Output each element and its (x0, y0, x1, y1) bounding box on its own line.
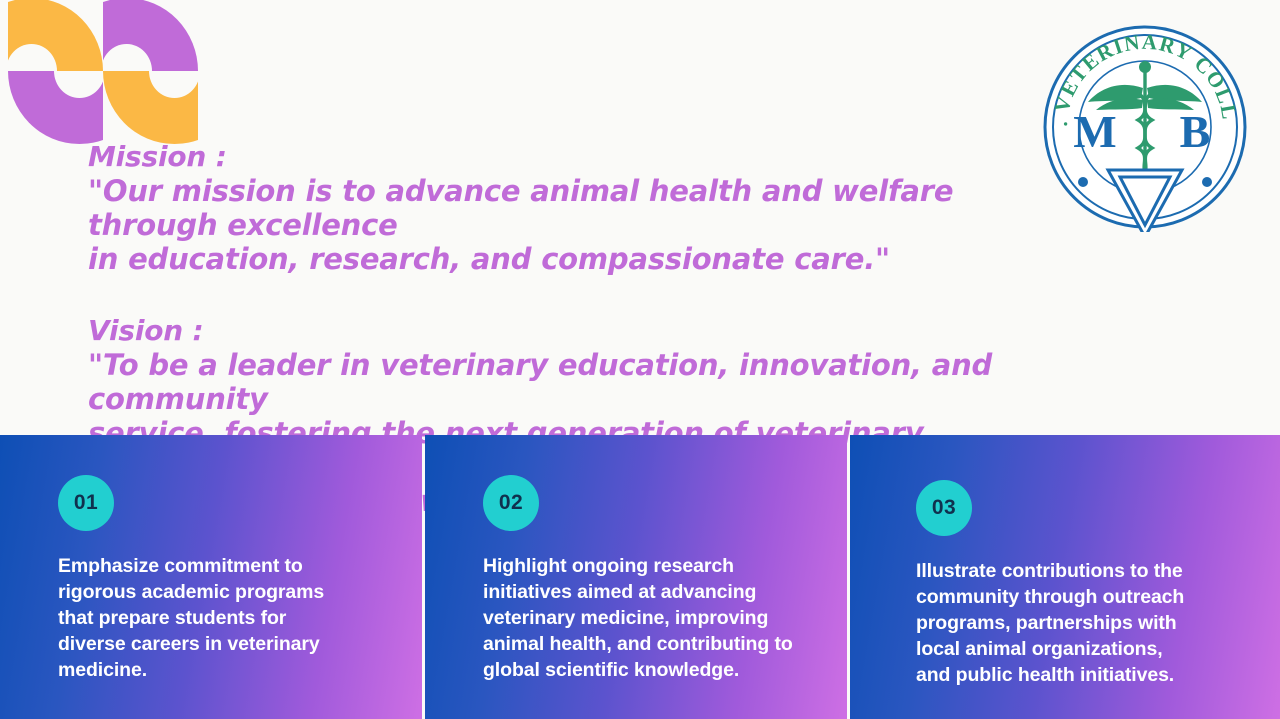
quote-arc-bottom-left (8, 71, 103, 144)
highlight-card-02[interactable]: 02 Highlight ongoing research initiative… (425, 435, 847, 719)
card-body-text: Emphasize commitment to rigorous academi… (58, 553, 374, 683)
mb-veterinary-college-logo: M.B. VETERINARY COLLEGE M B (1040, 22, 1250, 232)
mission-text: "Our mission is to advance animal health… (88, 174, 1048, 276)
highlight-card-03[interactable]: 03 Illustrate contributions to the commu… (850, 435, 1280, 719)
card-body-text: Highlight ongoing research initiatives a… (483, 553, 799, 683)
quote-arc-top-left (8, 0, 103, 71)
vision-heading: Vision : (88, 314, 1048, 348)
highlight-card-01[interactable]: 01 Emphasize commitment to rigorous acad… (0, 435, 422, 719)
slide-root: M.B. VETERINARY COLLEGE M B (0, 0, 1280, 719)
quote-arc-top-right (103, 0, 198, 71)
mission-group: Mission : "Our mission is to advance ani… (88, 140, 1048, 276)
card-body-text: Illustrate contributions to the communit… (916, 558, 1232, 688)
card-number-badge: 01 (58, 475, 114, 531)
svg-text:B: B (1180, 106, 1211, 157)
card-number-badge: 02 (483, 475, 539, 531)
quote-arc-bottom-right (103, 71, 198, 144)
svg-text:M: M (1073, 106, 1116, 157)
quote-mark-decoration (8, 0, 198, 144)
mission-heading: Mission : (88, 140, 1048, 174)
card-number-badge: 03 (916, 480, 972, 536)
highlight-cards: 01 Emphasize commitment to rigorous acad… (0, 435, 1280, 719)
